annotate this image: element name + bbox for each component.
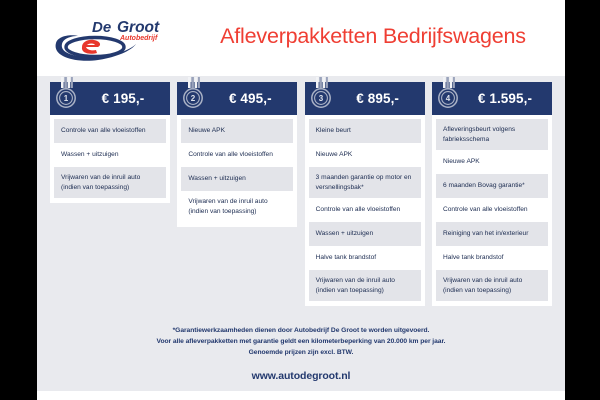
feature-item: Afleveringsbeurt volgens fabrieksschema [436,119,548,150]
medal-rank-number: 4 [446,94,451,103]
feature-item: Nieuwe APK [309,143,421,167]
package-header-2: 2 € 495,- [177,82,297,115]
screenshot-canvas: De Groot Autobedrijf Afleverpakketten Be… [0,0,600,400]
package-header-3: 3 € 895,- [305,82,425,115]
medal-icon: 3 [310,77,332,113]
flyer-page: De Groot Autobedrijf Afleverpakketten Be… [37,0,565,400]
feature-item: Vrijwaren van de inruil auto (indien van… [181,191,293,222]
company-logo[interactable]: De Groot Autobedrijf [48,16,170,62]
feature-item: 6 maanden Bovag garantie* [436,174,548,198]
package-header-1: 1 € 195,- [50,82,170,115]
feature-item: Nieuwe APK [436,150,548,174]
package-feature-list-1: Controle van alle vloeistoffen Wassen + … [50,115,170,203]
package-price: € 895,- [335,91,425,106]
medal-icon: 2 [182,77,204,113]
medal-rank-number: 1 [64,94,69,103]
feature-item: Wassen + uitzuigen [309,222,421,246]
feature-item: Halve tank brandstof [309,246,421,270]
feature-item: Controle van alle vloeistoffen [309,198,421,222]
package-price: € 495,- [207,91,297,106]
medal-rank-number: 2 [191,94,196,103]
footer-strip [37,391,565,400]
disclaimer-line: Genoemde prijzen zijn excl. BTW. [37,348,565,359]
disclaimer-line: *Garantiewerkzaamheden dienen door Autob… [37,326,565,337]
disclaimer-line: Voor alle afleverpakketten met garantie … [37,337,565,348]
feature-item: Wassen + uitzuigen [181,167,293,191]
feature-item: Controle van alle vloeistoffen [54,119,166,143]
logo-tagline: Autobedrijf [119,35,158,42]
medal-rank-number: 3 [318,94,323,103]
feature-item: Controle van alle vloeistoffen [181,143,293,167]
package-card-1[interactable]: 1 € 195,- Controle van alle vloeistoffen… [50,82,170,306]
feature-item: Vrijwaren van de inruil auto (indien van… [309,270,421,301]
feature-item: Vrijwaren van de inruil auto (indien van… [54,167,166,198]
package-card-3[interactable]: 3 € 895,- Kleine beurt Nieuwe APK 3 maan… [305,82,425,306]
page-header: De Groot Autobedrijf Afleverpakketten Be… [37,0,565,76]
logo-artwork: De Groot Autobedrijf [48,16,170,62]
feature-item: 3 maanden garantie op motor en versnelli… [309,167,421,198]
feature-item: Controle van alle vloeistoffen [436,198,548,222]
package-price: € 1.595,- [462,91,552,106]
page-title: Afleverpakketten Bedrijfswagens [187,24,559,49]
medal-icon: 1 [55,77,77,113]
package-feature-list-2: Nieuwe APK Controle van alle vloeistoffe… [177,115,297,227]
logo-wordmark-groot: Groot [117,19,160,36]
package-card-2[interactable]: 2 € 495,- Nieuwe APK Controle van alle v… [177,82,297,306]
package-card-4[interactable]: 4 € 1.595,- Afleveringsbeurt volgens fab… [432,82,552,306]
package-price: € 195,- [80,91,170,106]
package-feature-list-3: Kleine beurt Nieuwe APK 3 maanden garant… [305,115,425,306]
feature-item: Halve tank brandstof [436,246,548,270]
feature-item: Reiniging van het in/exterieur [436,222,548,246]
package-feature-list-4: Afleveringsbeurt volgens fabrieksschema … [432,115,552,306]
medal-icon: 4 [437,77,459,113]
package-cards: 1 € 195,- Controle van alle vloeistoffen… [37,82,565,306]
website-url[interactable]: www.autodegroot.nl [37,370,565,382]
feature-item: Kleine beurt [309,119,421,143]
package-header-4: 4 € 1.595,- [432,82,552,115]
feature-item: Nieuwe APK [181,119,293,143]
feature-item: Vrijwaren van de inruil auto (indien van… [436,270,548,301]
feature-item: Wassen + uitzuigen [54,143,166,167]
page-footer: *Garantiewerkzaamheden dienen door Autob… [37,326,565,382]
logo-wordmark-de: De [92,19,111,36]
